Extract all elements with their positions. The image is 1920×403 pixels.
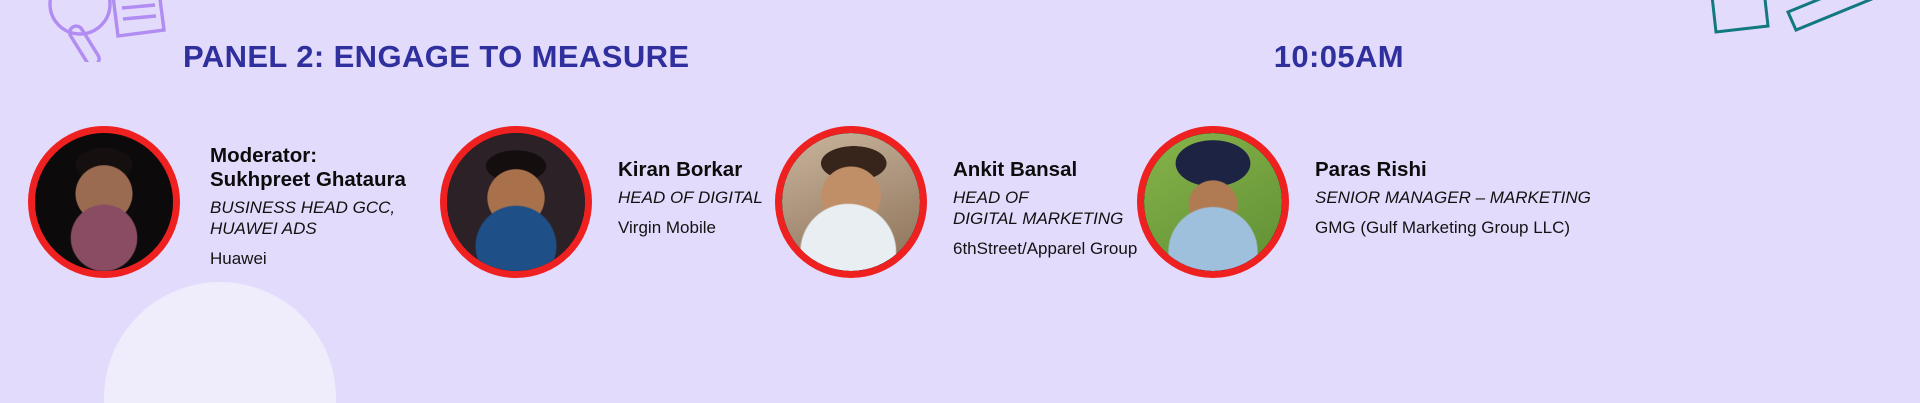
teal-paper-shapes-icon xyxy=(1670,0,1920,34)
speaker-name: Ankit Bansal xyxy=(953,158,1137,182)
speaker-info: Ankit Bansal HEAD OF DIGITAL MARKETING 6… xyxy=(953,158,1137,259)
avatar xyxy=(440,126,592,278)
speaker-card[interactable]: Paras Rishi SENIOR MANAGER – MARKETING G… xyxy=(1137,126,1591,278)
speaker-role: HEAD OF DIGITAL xyxy=(618,187,763,208)
speaker-photo xyxy=(447,133,585,271)
speaker-role-line1: HEAD OF xyxy=(953,187,1137,208)
speaker-info: Moderator: Sukhpreet Ghataura BUSINESS H… xyxy=(210,144,406,269)
speaker-organization: Huawei xyxy=(210,248,406,269)
avatar xyxy=(28,126,180,278)
speaker-list: Moderator: Sukhpreet Ghataura BUSINESS H… xyxy=(0,126,1920,296)
speaker-card[interactable]: Moderator: Sukhpreet Ghataura BUSINESS H… xyxy=(28,126,406,278)
speaker-role-line2: HUAWEI ADS xyxy=(210,218,406,239)
speaker-name-line2: Sukhpreet Ghataura xyxy=(210,168,406,192)
pale-circle-shape xyxy=(104,282,336,403)
speaker-name-line1: Moderator: xyxy=(210,144,406,168)
speaker-name-line1: Kiran Borkar xyxy=(618,158,763,182)
speaker-name-line1: Ankit Bansal xyxy=(953,158,1137,182)
page-title: PANEL 2: ENGAGE TO MEASURE xyxy=(183,34,689,80)
speaker-organization: GMG (Gulf Marketing Group LLC) xyxy=(1315,217,1591,238)
speaker-photo xyxy=(782,133,920,271)
speaker-name-line1: Paras Rishi xyxy=(1315,158,1591,182)
speaker-role-line1: SENIOR MANAGER – MARKETING xyxy=(1315,187,1591,208)
speaker-role-line1: HEAD OF DIGITAL xyxy=(618,187,763,208)
speaker-name: Paras Rishi xyxy=(1315,158,1591,182)
speaker-info: Kiran Borkar HEAD OF DIGITAL Virgin Mobi… xyxy=(618,158,763,238)
avatar xyxy=(775,126,927,278)
speaker-name: Moderator: Sukhpreet Ghataura xyxy=(210,144,406,192)
speaker-role: BUSINESS HEAD GCC, HUAWEI ADS xyxy=(210,197,406,239)
speaker-card[interactable]: Ankit Bansal HEAD OF DIGITAL MARKETING 6… xyxy=(775,126,1137,278)
speaker-card[interactable]: Kiran Borkar HEAD OF DIGITAL Virgin Mobi… xyxy=(440,126,763,278)
speaker-info: Paras Rishi SENIOR MANAGER – MARKETING G… xyxy=(1315,158,1591,238)
speaker-role: SENIOR MANAGER – MARKETING xyxy=(1315,187,1591,208)
panel-header: PANEL 2: ENGAGE TO MEASURE 10:05AM xyxy=(0,34,1920,86)
speaker-photo xyxy=(1144,133,1282,271)
panel-slide: PANEL 2: ENGAGE TO MEASURE 10:05AM Moder… xyxy=(0,0,1920,403)
speaker-name: Kiran Borkar xyxy=(618,158,763,182)
speaker-organization: Virgin Mobile xyxy=(618,217,763,238)
speaker-organization: 6thStreet/Apparel Group xyxy=(953,238,1137,259)
panel-time: 10:05AM xyxy=(1274,34,1404,80)
speaker-photo xyxy=(35,133,173,271)
speaker-role: HEAD OF DIGITAL MARKETING xyxy=(953,187,1137,229)
avatar xyxy=(1137,126,1289,278)
speaker-role-line1: BUSINESS HEAD GCC, xyxy=(210,197,406,218)
speaker-role-line2: DIGITAL MARKETING xyxy=(953,208,1137,229)
